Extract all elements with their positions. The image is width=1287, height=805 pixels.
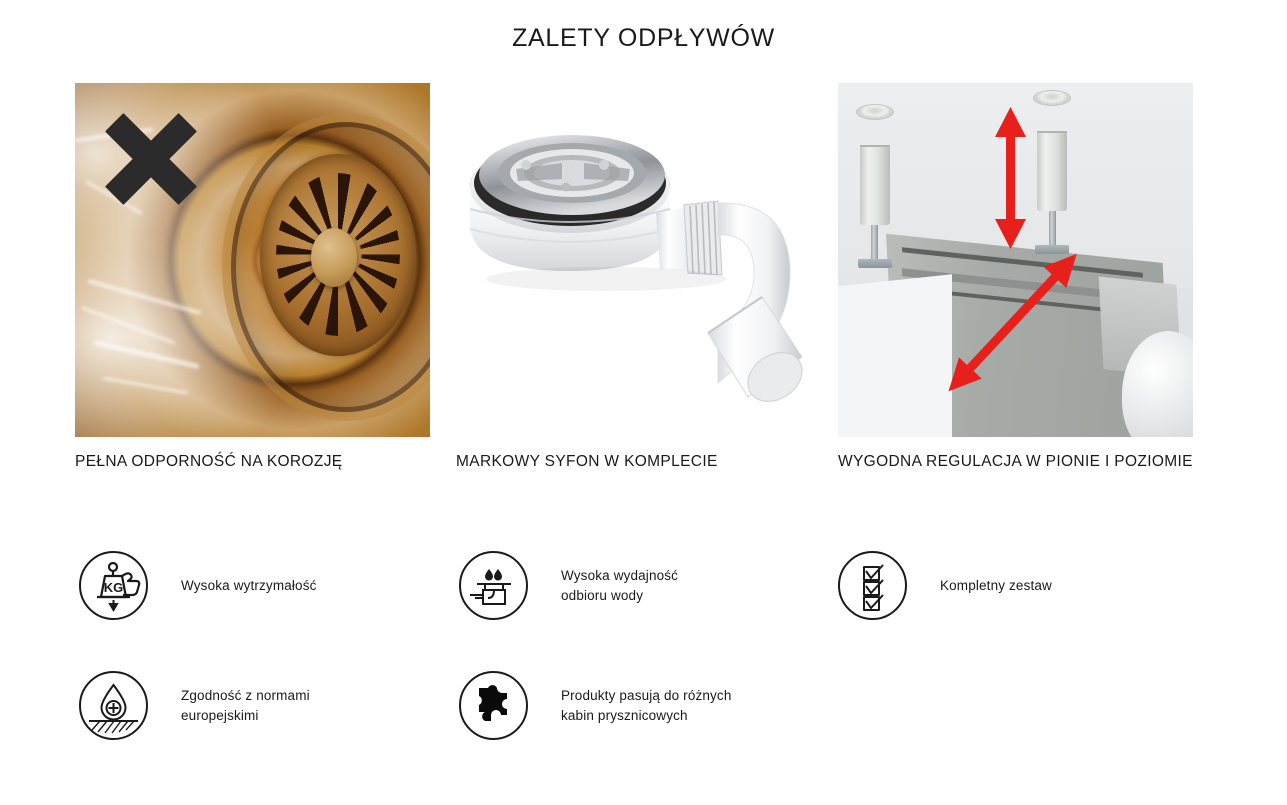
- page-title: ZALETY ODPŁYWÓW: [0, 24, 1287, 53]
- feature-card-corrosion: PEŁNA ODPORNOŚĆ NA KOROZJĘ: [75, 83, 430, 437]
- white-shower-siphon-photo: [456, 83, 811, 437]
- feature-label: Wysoka wydajność odbioru wody: [561, 566, 678, 606]
- feature-item-complete-set: Kompletny zestaw: [838, 551, 1052, 620]
- feature-label: Zgodność z normami europejskimi: [181, 686, 310, 726]
- rusty-corroded-drain-photo: [75, 83, 430, 437]
- feature-label: Wysoka wytrzymałość: [181, 576, 317, 596]
- kg-label: KG: [104, 580, 124, 595]
- double-headed-arrow-icon: [838, 83, 1193, 437]
- siphon-white-background: [456, 83, 811, 437]
- feature-item-compatibility: Produkty pasują do różnych kabin pryszni…: [459, 671, 732, 740]
- water-drops-drain-icon: [459, 551, 528, 620]
- water-drop-cross-ground-icon: [79, 671, 148, 740]
- feature-card-caption: PEŁNA ODPORNOŚĆ NA KOROZJĘ: [75, 453, 475, 471]
- weight-kg-thumbs-up-icon: KG: [79, 551, 148, 620]
- feature-cards-row: PEŁNA ODPORNOŚĆ NA KOROZJĘ: [75, 83, 1188, 483]
- feature-list: KG Wysoka wytrzymałość: [0, 545, 1287, 775]
- siphon-illustration: [456, 83, 811, 437]
- adjustable-feet-rails-photo: [838, 83, 1193, 437]
- feature-card-siphon: MARKOWY SYFON W KOMPLECIE: [456, 83, 811, 437]
- checklist-boxes-icon: [838, 551, 907, 620]
- puzzle-piece-icon: [459, 671, 528, 740]
- feature-card-caption: WYGODNA REGULACJA W PIONIE I POZIOMIE: [838, 453, 1238, 471]
- feature-item-eu-norms: Zgodność z normami europejskimi: [79, 671, 310, 740]
- feature-card-adjustment: WYGODNA REGULACJA W PIONIE I POZIOMIE: [838, 83, 1193, 437]
- feature-item-water-flow: Wysoka wydajność odbioru wody: [459, 551, 678, 620]
- feature-label: Produkty pasują do różnych kabin pryszni…: [561, 686, 732, 726]
- x-cross-icon: [99, 107, 203, 211]
- drain-center-hub: [311, 228, 357, 286]
- feature-item-strength: KG Wysoka wytrzymałość: [79, 551, 317, 620]
- feature-card-caption: MARKOWY SYFON W KOMPLECIE: [456, 453, 856, 471]
- adjustment-photo-scene: [838, 83, 1193, 437]
- feature-label: Kompletny zestaw: [940, 576, 1052, 596]
